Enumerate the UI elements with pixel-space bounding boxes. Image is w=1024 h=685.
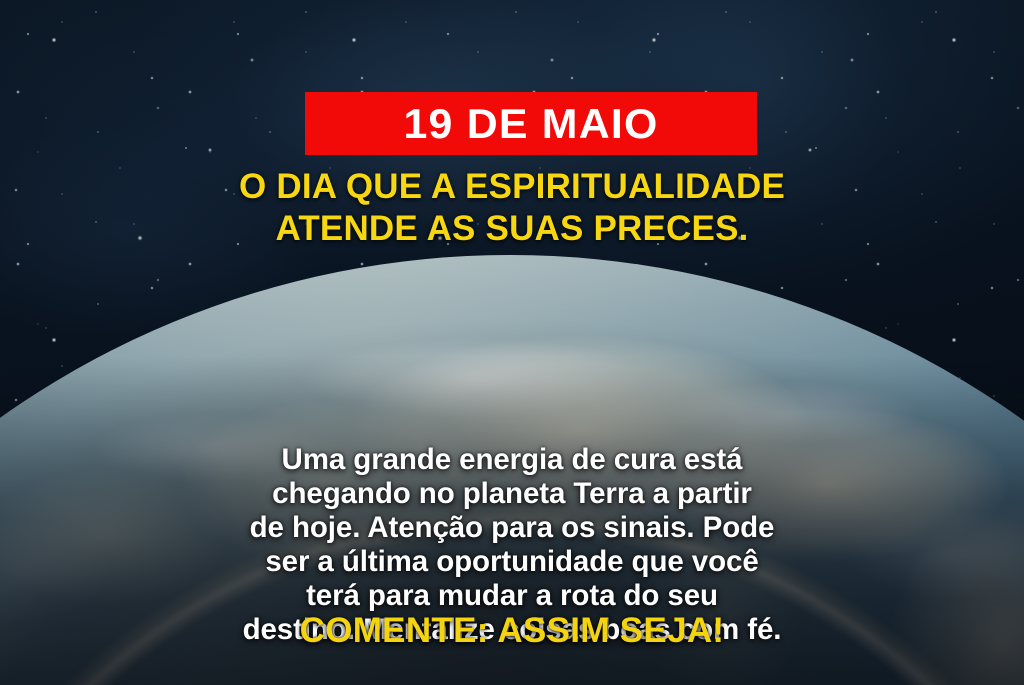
body-line-3: de hoje. Atenção para os sinais. Pode: [44, 511, 980, 545]
poster-canvas: 19 DE MAIO O DIA QUE A ESPIRITUALIDADE A…: [0, 0, 1024, 685]
headline-line-1: O DIA QUE A ESPIRITUALIDADE: [46, 166, 978, 208]
headline-line-2: ATENDE AS SUAS PRECES.: [46, 208, 978, 250]
poster-content: 19 DE MAIO O DIA QUE A ESPIRITUALIDADE A…: [0, 0, 1024, 685]
body-line-5: terá para mudar a rota do seu: [44, 579, 980, 613]
body-line-2: chegando no planeta Terra a partir: [44, 477, 980, 511]
call-to-action-text: COMENTE: ASSIM SEJA!: [0, 613, 1024, 648]
date-banner-text: 19 DE MAIO: [403, 103, 658, 145]
date-banner: 19 DE MAIO: [305, 92, 757, 155]
headline: O DIA QUE A ESPIRITUALIDADE ATENDE AS SU…: [0, 166, 1024, 250]
body-line-1: Uma grande energia de cura está: [44, 443, 980, 477]
body-line-4: ser a última oportunidade que você: [44, 545, 980, 579]
